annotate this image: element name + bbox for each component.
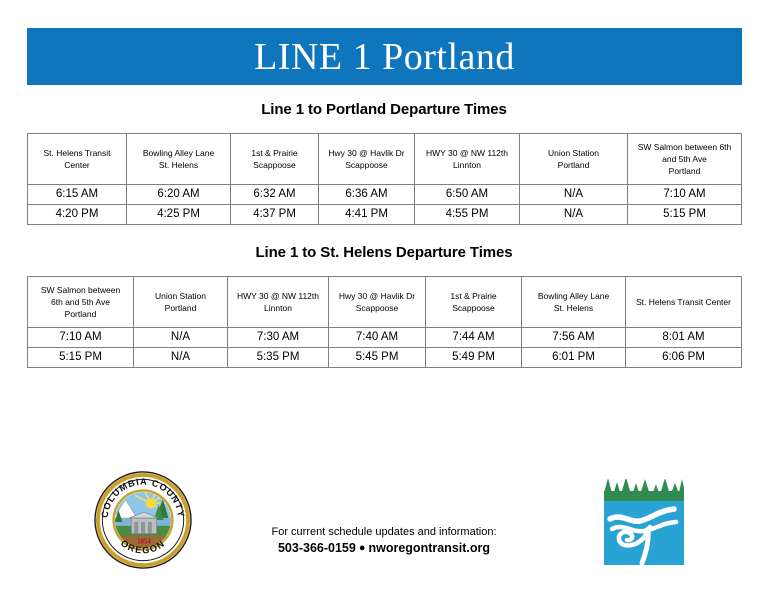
departure-time-cell: 8:01 AM: [626, 328, 742, 348]
footer-contact-line: 503-366-0159●nworegontransit.org: [184, 540, 584, 557]
schedule-page: LINE 1 Portland Line 1 to Portland Depar…: [0, 0, 768, 594]
departure-time-cell: 4:37 PM: [231, 205, 319, 225]
table-row: 7:10 AM N/A 7:30 AM 7:40 AM 7:44 AM 7:56…: [28, 328, 742, 348]
footer-contact: For current schedule updates and informa…: [184, 524, 584, 557]
seal-year: 1854: [137, 539, 151, 546]
column-header-1st-and-prairie: 1st & Prairie Scappoose: [231, 134, 319, 185]
header-line: St. Helens Transit: [43, 148, 110, 158]
column-header-st-helens-transit-center: St. Helens Transit Center: [626, 277, 742, 328]
departure-time-cell: N/A: [520, 185, 628, 205]
departure-time-cell: 5:49 PM: [426, 348, 522, 368]
departure-time-cell: N/A: [134, 328, 228, 348]
header-line: Linnton: [453, 160, 481, 170]
header-line: Center: [64, 160, 90, 170]
header-line: Bowling Alley Lane: [143, 148, 214, 158]
departure-time-cell: 7:30 AM: [228, 328, 329, 348]
header-line: Portland: [165, 303, 197, 313]
departure-time-cell: 4:25 PM: [127, 205, 231, 225]
header-line: Portland: [669, 166, 701, 176]
column-header-union-station: Union Station Portland: [134, 277, 228, 328]
departure-time-cell: 4:20 PM: [28, 205, 127, 225]
departure-time-cell: 7:10 AM: [628, 185, 742, 205]
column-header-hwy30-nw-112th: HWY 30 @ NW 112th Linnton: [228, 277, 329, 328]
departure-time-cell: 4:55 PM: [415, 205, 520, 225]
column-header-hwy30-havlik-dr: Hwy 30 @ Havlik Dr Scappoose: [319, 134, 415, 185]
column-header-hwy30-havlik-dr: Hwy 30 @ Havlik Dr Scappoose: [329, 277, 426, 328]
column-header-st-helens-transit-center: St. Helens Transit Center: [28, 134, 127, 185]
footer-info-label: For current schedule updates and informa…: [184, 524, 584, 540]
header-line: St. Helens Transit Center: [636, 297, 731, 307]
departure-time-cell: 6:36 AM: [319, 185, 415, 205]
header-line: Scappoose: [345, 160, 388, 170]
departure-time-cell: 7:44 AM: [426, 328, 522, 348]
departure-time-cell: 7:56 AM: [522, 328, 626, 348]
phone-number[interactable]: 503-366-0159: [278, 541, 356, 555]
header-line: 1st & Prairie: [450, 291, 496, 301]
departure-time-cell: 4:41 PM: [319, 205, 415, 225]
departure-time-cell: N/A: [520, 205, 628, 225]
website-link[interactable]: nworegontransit.org: [368, 541, 490, 555]
departure-table-to-st-helens: SW Salmon between 6th and 5th Ave Portla…: [27, 276, 742, 368]
header-line: SW Salmon between: [41, 285, 120, 295]
header-line: 1st & Prairie: [251, 148, 297, 158]
column-header-sw-salmon: SW Salmon between 6th and 5th Ave Portla…: [28, 277, 134, 328]
header-line: Union Station: [548, 148, 599, 158]
bullet-separator-icon: ●: [356, 542, 369, 554]
table-row: 4:20 PM 4:25 PM 4:37 PM 4:41 PM 4:55 PM …: [28, 205, 742, 225]
header-line: SW Salmon between 6th: [638, 142, 732, 152]
departure-time-cell: 5:15 PM: [628, 205, 742, 225]
header-line: Bowling Alley Lane: [538, 291, 609, 301]
departure-time-cell: 6:20 AM: [127, 185, 231, 205]
header-line: Portland: [65, 309, 97, 319]
departure-time-cell: 7:40 AM: [329, 328, 426, 348]
departure-time-cell: 6:01 PM: [522, 348, 626, 368]
departure-time-cell: 5:35 PM: [228, 348, 329, 368]
column-header-hwy30-nw-112th: HWY 30 @ NW 112th Linnton: [415, 134, 520, 185]
departure-time-cell: 5:45 PM: [329, 348, 426, 368]
header-line: Hwy 30 @ Havlik Dr: [328, 148, 404, 158]
header-line: Scappoose: [452, 303, 495, 313]
header-line: St. Helens: [554, 303, 593, 313]
column-header-1st-and-prairie: 1st & Prairie Scappoose: [426, 277, 522, 328]
departure-time-cell: 5:15 PM: [28, 348, 134, 368]
title-banner: LINE 1 Portland: [27, 28, 742, 85]
departure-time-cell: N/A: [134, 348, 228, 368]
header-line: St. Helens: [159, 160, 198, 170]
column-header-bowling-alley-lane: Bowling Alley Lane St. Helens: [127, 134, 231, 185]
table-header-row: SW Salmon between 6th and 5th Ave Portla…: [28, 277, 742, 328]
header-line: and 5th Ave: [662, 154, 707, 164]
columbia-county-seal-icon: 1854 COLUMBIA COUNTY OREGON: [94, 471, 192, 569]
header-line: HWY 30 @ NW 112th: [426, 148, 508, 158]
table-header-row: St. Helens Transit Center Bowling Alley …: [28, 134, 742, 185]
page-title: LINE 1 Portland: [254, 38, 515, 76]
section-heading-to-portland: Line 1 to Portland Departure Times: [0, 101, 768, 118]
departure-time-cell: 6:50 AM: [415, 185, 520, 205]
departure-time-cell: 6:15 AM: [28, 185, 127, 205]
column-header-union-station: Union Station Portland: [520, 134, 628, 185]
column-header-sw-salmon: SW Salmon between 6th and 5th Ave Portla…: [628, 134, 742, 185]
column-header-bowling-alley-lane: Bowling Alley Lane St. Helens: [522, 277, 626, 328]
table-row: 6:15 AM 6:20 AM 6:32 AM 6:36 AM 6:50 AM …: [28, 185, 742, 205]
transit-river-logo-icon: [602, 477, 686, 567]
departure-time-cell: 6:32 AM: [231, 185, 319, 205]
header-line: Hwy 30 @ Havlik Dr: [339, 291, 415, 301]
header-line: Scappoose: [253, 160, 296, 170]
departure-table-to-portland: St. Helens Transit Center Bowling Alley …: [27, 133, 742, 225]
departure-time-cell: 7:10 AM: [28, 328, 134, 348]
header-line: Portland: [558, 160, 590, 170]
section-heading-to-st-helens: Line 1 to St. Helens Departure Times: [0, 244, 768, 261]
header-line: Linnton: [264, 303, 292, 313]
header-line: Scappoose: [356, 303, 399, 313]
header-line: 6th and 5th Ave: [51, 297, 110, 307]
departure-time-cell: 6:06 PM: [626, 348, 742, 368]
header-line: HWY 30 @ NW 112th: [237, 291, 319, 301]
header-line: Union Station: [155, 291, 206, 301]
table-row: 5:15 PM N/A 5:35 PM 5:45 PM 5:49 PM 6:01…: [28, 348, 742, 368]
